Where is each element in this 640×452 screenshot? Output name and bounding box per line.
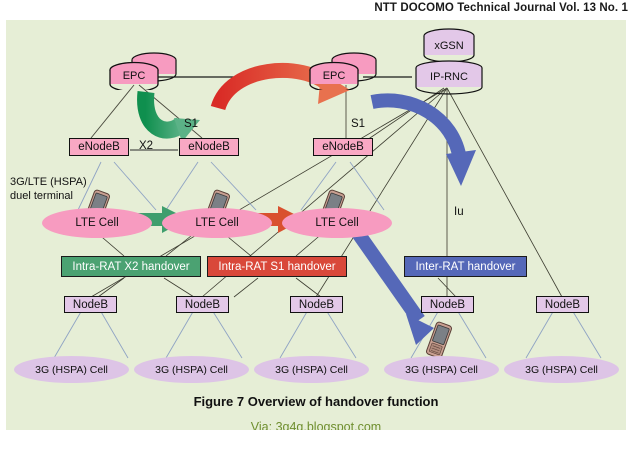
- nodeb-5[interactable]: NodeB: [536, 296, 589, 313]
- g3-cell-4-label: 3G (HSPA) Cell: [405, 364, 478, 376]
- epc-left-node[interactable]: EPC: [106, 48, 180, 90]
- via-credit: Via: 3g4g.blogspot.com: [6, 420, 626, 430]
- lte-cell-1[interactable]: LTE Cell: [42, 208, 152, 238]
- chip-inter-rat[interactable]: Inter-RAT handover: [404, 256, 527, 277]
- g3-cell-1-label: 3G (HSPA) Cell: [35, 364, 108, 376]
- g3-cell-5[interactable]: 3G (HSPA) Cell: [504, 356, 619, 383]
- lte-cell-3[interactable]: LTE Cell: [282, 208, 392, 238]
- nodeb-1[interactable]: NodeB: [64, 296, 117, 313]
- g3-cell-3[interactable]: 3G (HSPA) Cell: [254, 356, 369, 383]
- g3-cell-2[interactable]: 3G (HSPA) Cell: [134, 356, 249, 383]
- lte-cell-2[interactable]: LTE Cell: [162, 208, 272, 238]
- iu-label: Iu: [454, 206, 464, 218]
- enodeb-2-label: eNodeB: [188, 141, 230, 153]
- chip-intra-rat-s1-label: Intra-RAT S1 handover: [218, 261, 335, 273]
- lte-cell-3-label: LTE Cell: [315, 217, 358, 229]
- terminal-legend-line1: 3G/LTE (HSPA): [10, 175, 87, 189]
- xgsn-node[interactable]: xGSN: [421, 28, 477, 64]
- enodeb-1-label: eNodeB: [78, 141, 120, 153]
- chip-intra-rat-s1[interactable]: Intra-RAT S1 handover: [207, 256, 347, 277]
- nodeb-1-label: NodeB: [73, 299, 108, 311]
- chip-inter-rat-label: Inter-RAT handover: [416, 261, 516, 273]
- epc-right-icon: [306, 48, 380, 90]
- ip-rnc-icon: [412, 60, 486, 96]
- chip-intra-rat-x2[interactable]: Intra-RAT X2 handover: [61, 256, 201, 277]
- s1-right-label: S1: [351, 118, 365, 130]
- x2-label: X2: [139, 140, 153, 152]
- enodeb-1[interactable]: eNodeB: [69, 138, 129, 156]
- ip-rnc-node[interactable]: IP-RNC: [412, 60, 486, 96]
- phone-3g-4: [426, 320, 452, 360]
- nodeb-2-label: NodeB: [185, 299, 220, 311]
- enodeb-3[interactable]: eNodeB: [313, 138, 373, 156]
- journal-header: NTT DOCOMO Technical Journal Vol. 13 No.…: [374, 2, 628, 14]
- x2-handover-arrow: [146, 92, 200, 142]
- s1-left-label: S1: [184, 118, 198, 130]
- enodeb-3-label: eNodeB: [322, 141, 364, 153]
- g3-cell-4[interactable]: 3G (HSPA) Cell: [384, 356, 499, 383]
- g3-cell-3-label: 3G (HSPA) Cell: [275, 364, 348, 376]
- epc-right-node[interactable]: EPC: [306, 48, 380, 90]
- figure-canvas: EPC EPC: [6, 20, 626, 430]
- g3-cell-1[interactable]: 3G (HSPA) Cell: [14, 356, 129, 383]
- nodeb-3[interactable]: NodeB: [290, 296, 343, 313]
- nodeb-4-label: NodeB: [430, 299, 465, 311]
- mobile-phone-icon: [426, 320, 452, 360]
- nodeb-5-label: NodeB: [545, 299, 580, 311]
- xgsn-icon: [421, 28, 477, 64]
- terminal-legend-line2: duel terminal: [10, 189, 87, 203]
- figure-page: NTT DOCOMO Technical Journal Vol. 13 No.…: [0, 0, 640, 452]
- nodeb-2[interactable]: NodeB: [176, 296, 229, 313]
- nodeb-3-label: NodeB: [299, 299, 334, 311]
- nodeb-4[interactable]: NodeB: [421, 296, 474, 313]
- g3-cell-5-label: 3G (HSPA) Cell: [525, 364, 598, 376]
- figure-caption: Figure 7 Overview of handover function: [6, 394, 626, 409]
- lte-cell-2-label: LTE Cell: [195, 217, 238, 229]
- epc-left-icon: [106, 48, 180, 90]
- terminal-legend: 3G/LTE (HSPA) duel terminal: [10, 175, 87, 203]
- enodeb-2[interactable]: eNodeB: [179, 138, 239, 156]
- lte-cell-1-label: LTE Cell: [75, 217, 118, 229]
- g3-cell-2-label: 3G (HSPA) Cell: [155, 364, 228, 376]
- chip-intra-rat-x2-label: Intra-RAT X2 handover: [72, 261, 189, 273]
- inter-rat-curved-arrow: [372, 100, 476, 186]
